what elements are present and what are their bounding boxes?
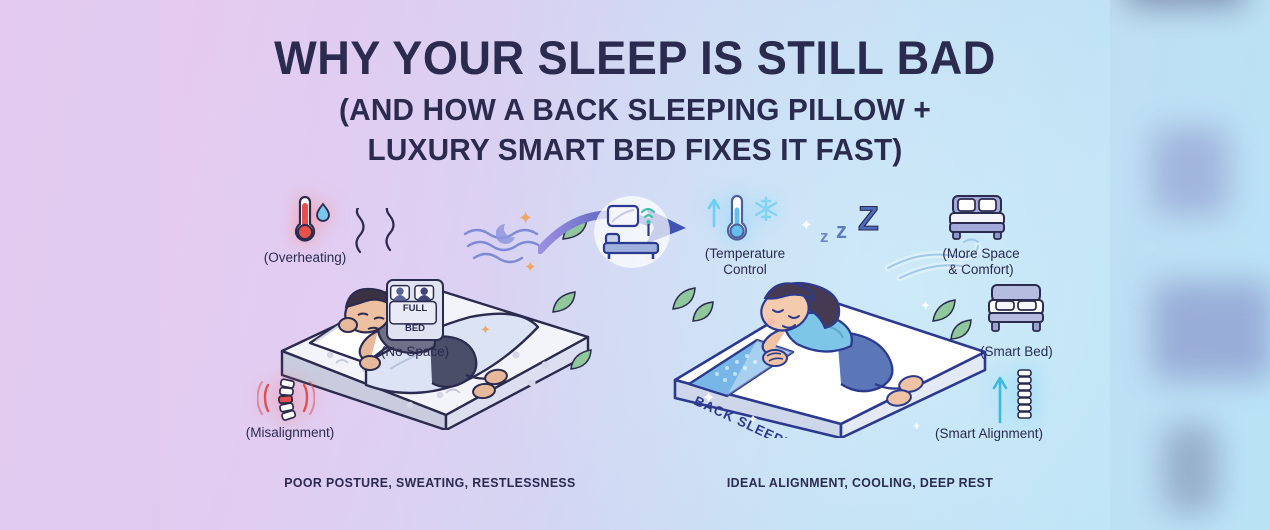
label-more-space-comfort: (More Space & Comfort) — [920, 246, 1042, 278]
spine-aligned-arrow-icon — [988, 366, 1048, 428]
restless-squiggles-icon — [346, 208, 416, 258]
smart-bed-wifi-icon — [594, 196, 670, 268]
label-smart-alignment: (Smart Alignment) — [935, 426, 1095, 442]
caption-left: POOR POSTURE, SWEATING, RESTLESSNESS — [231, 475, 630, 490]
full-bed-badge-text: FULL BED — [386, 294, 444, 334]
sparkle-icon: ✦ — [480, 322, 491, 338]
label-no-space: (No Space) — [355, 344, 475, 360]
page-subtitle-line1: (AND HOW A BACK SLEEPING PILLOW + — [179, 90, 1091, 130]
caption-right: IDEAL ALIGNMENT, COOLING, DEEP REST — [661, 475, 1060, 490]
label-temperature-control: (Temperature Control — [682, 246, 808, 278]
svg-text:z: z — [820, 227, 829, 246]
label-misalignment: (Misalignment) — [220, 425, 360, 441]
full-bed-line2: BED — [405, 323, 425, 334]
full-bed-icon: FULL BED — [386, 279, 444, 341]
leaf-icon — [690, 300, 716, 324]
sparkle-icon: ✦ — [748, 412, 758, 426]
moon-icon — [496, 219, 522, 245]
thermometer-cold-snowflake-icon — [706, 190, 784, 252]
bed-icon — [945, 192, 1009, 244]
svg-text:z: z — [836, 218, 847, 243]
page-title: WHY YOUR SLEEP IS STILL BAD — [179, 34, 1091, 82]
spine-misaligned-icon — [257, 375, 315, 427]
full-bed-line1: FULL — [403, 303, 427, 314]
thermometer-hot-icon — [278, 192, 334, 248]
sparkle-icon: ✦ — [800, 216, 813, 234]
sparkle-icon: ✦ — [920, 298, 931, 314]
svg-text:Z: Z — [858, 200, 879, 238]
infographic-poster: WHY YOUR SLEEP IS STILL BAD (AND HOW A B… — [160, 0, 1110, 530]
sparkle-icon: ✦ — [912, 420, 921, 433]
leaf-icon — [550, 290, 578, 316]
leaf-icon — [948, 318, 974, 342]
smart-bed-icon — [985, 282, 1047, 336]
leaf-icon — [568, 348, 594, 372]
poster-title-block: WHY YOUR SLEEP IS STILL BAD (AND HOW A B… — [160, 34, 1110, 169]
page-subtitle-line2: LUXURY SMART BED FIXES IT FAST) — [179, 130, 1091, 170]
sparkle-icon: ✦ — [702, 388, 715, 408]
page-subtitle: (AND HOW A BACK SLEEPING PILLOW + LUXURY… — [179, 90, 1091, 169]
label-smart-bed: (Smart Bed) — [980, 344, 1100, 360]
